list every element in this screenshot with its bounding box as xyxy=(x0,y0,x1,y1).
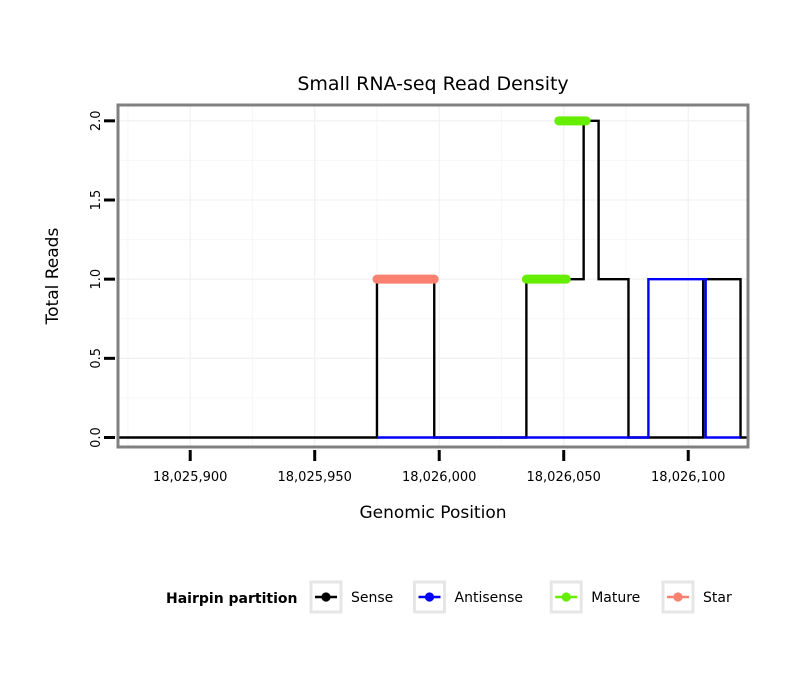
y-tick-label: 1.0 xyxy=(89,269,104,290)
x-tick-label: 18,026,050 xyxy=(527,470,601,485)
rna-read-density-chart: Small RNA-seq Read Density 18,025,90018,… xyxy=(0,0,810,690)
legend-entry-label: Sense xyxy=(351,590,393,606)
legend-entry-label: Star xyxy=(703,590,732,606)
legend-key-point xyxy=(425,592,434,601)
y-tick-label: 1.5 xyxy=(89,190,104,211)
legend-key-point xyxy=(562,592,571,601)
chart-root: Small RNA-seq Read Density 18,025,90018,… xyxy=(0,0,810,690)
x-tick-label: 18,026,100 xyxy=(651,470,725,485)
legend-entry-label: Antisense xyxy=(455,590,524,606)
y-tick-label: 0.5 xyxy=(89,348,104,369)
x-tick-label: 18,025,900 xyxy=(153,470,227,485)
y-axis-title: Total Reads xyxy=(43,228,63,326)
y-tick-label: 0.0 xyxy=(89,427,104,448)
legend-key-point xyxy=(673,592,682,601)
y-tick-label: 2.0 xyxy=(89,110,104,131)
legend-entry-label: Mature xyxy=(591,590,640,606)
x-axis-title: Genomic Position xyxy=(359,503,506,523)
x-tick-label: 18,026,000 xyxy=(402,470,476,485)
legend-title: Hairpin partition xyxy=(166,591,297,607)
legend-key-point xyxy=(321,592,330,601)
chart-title: Small RNA-seq Read Density xyxy=(297,73,568,95)
x-tick-label: 18,025,950 xyxy=(278,470,352,485)
